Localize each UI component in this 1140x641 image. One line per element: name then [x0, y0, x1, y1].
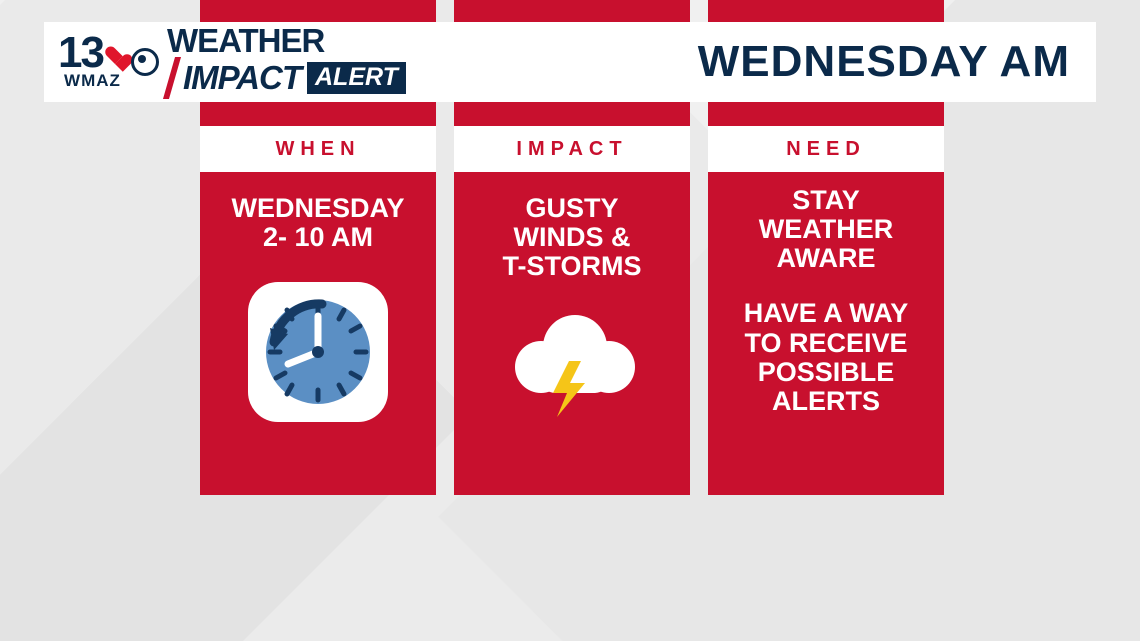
card-impact-text: GUSTY WINDS & T-STORMS [502, 194, 641, 281]
page-title: WEDNESDAY AM [698, 37, 1096, 87]
card-when-text-line2: 2- 10 AM [231, 223, 404, 252]
station-number-text: 13 [58, 28, 103, 77]
station-logo-mark: 13 WMAZ [58, 33, 127, 91]
brand-alert-badge: ALERT [307, 62, 406, 94]
card-need-text-line1: STAY [759, 186, 894, 215]
card-need-text2-line4: ALERTS [744, 387, 909, 416]
card-when-text-line1: WEDNESDAY [231, 194, 404, 223]
heart-icon [104, 45, 126, 67]
card-impact-text-line2: WINDS & [502, 223, 641, 252]
brand-weather-text: WEATHER [167, 25, 406, 56]
card-need-text: STAY WEATHER AWARE [759, 186, 894, 273]
card-when-body: WEDNESDAY 2- 10 AM [200, 172, 436, 495]
cbs-eye-icon [131, 48, 159, 76]
card-need-text2-line1: HAVE A WAY [744, 299, 909, 328]
card-need-text2-line3: POSSIBLE [744, 358, 909, 387]
header-bar: 13 WMAZ WEATHER IMPACT ALERT WEDNESDAY A… [44, 22, 1096, 102]
card-impact-label-text: IMPACT [516, 138, 627, 161]
card-impact-text-line1: GUSTY [502, 194, 641, 223]
card-need-text2-line2: TO RECEIVE [744, 329, 909, 358]
card-need-label: NEED [708, 126, 944, 172]
thunderstorm-cloud-icon [497, 309, 647, 424]
card-when-text: WEDNESDAY 2- 10 AM [231, 194, 404, 252]
card-need-body: STAY WEATHER AWARE HAVE A WAY TO RECEIVE… [708, 172, 944, 495]
card-need-text-secondary: HAVE A WAY TO RECEIVE POSSIBLE ALERTS [744, 299, 909, 416]
card-when-label: WHEN [200, 126, 436, 172]
brand-impact-text: IMPACT [183, 62, 301, 93]
card-need-text-line2: WEATHER [759, 215, 894, 244]
slash-icon [163, 57, 181, 99]
brand-block: WEATHER IMPACT ALERT [167, 25, 406, 98]
brand-impact-row: IMPACT ALERT [167, 57, 406, 99]
station-logo: 13 WMAZ WEATHER IMPACT ALERT [44, 22, 406, 102]
card-impact-text-line3: T-STORMS [502, 252, 641, 281]
station-number: 13 [58, 33, 127, 73]
card-need-label-text: NEED [786, 138, 866, 161]
card-impact-label: IMPACT [454, 126, 690, 172]
card-need-text-line3: AWARE [759, 244, 894, 273]
card-when-label-text: WHEN [275, 138, 360, 161]
alarm-clock-icon [244, 278, 392, 431]
card-impact-body: GUSTY WINDS & T-STORMS [454, 172, 690, 495]
